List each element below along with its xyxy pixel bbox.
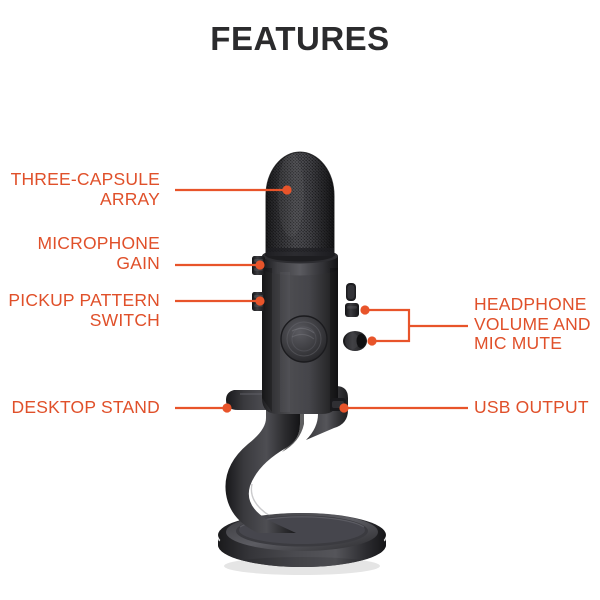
callout-label-desktop-stand: DESKTOP STAND [0, 398, 160, 418]
callout-label-three-capsule-array: THREE-CAPSULE ARRAY [0, 170, 160, 209]
secondary-right-knob [343, 331, 367, 351]
headphone-volume-knob [345, 303, 359, 317]
center-logo-dial [281, 316, 327, 362]
mic-mute-button [346, 283, 356, 301]
pattern-switch-knob [252, 292, 265, 311]
callout-label-usb-output: USB OUTPUT [474, 398, 600, 418]
callout-label-headphone-volume-and-mic-mute: HEADPHONE VOLUME AND MIC MUTE [474, 295, 600, 354]
callout-label-microphone-gain: MICROPHONE GAIN [0, 234, 160, 273]
features-diagram-canvas: FEATURES [0, 0, 600, 600]
usb-port [330, 398, 346, 411]
gain-knob [252, 256, 265, 275]
grille-capsule [260, 148, 344, 260]
callout-label-pickup-pattern-switch: PICKUP PATTERN SWITCH [0, 291, 160, 330]
